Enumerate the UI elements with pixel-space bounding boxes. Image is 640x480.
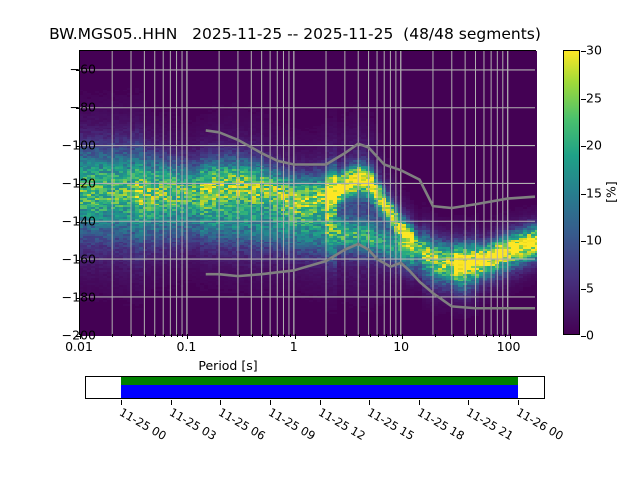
coverage-tick-label: 11-25 21 <box>464 405 516 443</box>
colorbar-tick-label: 25 <box>586 90 602 105</box>
x-axis-minor-tick <box>435 334 436 337</box>
colorbar-tick-label: 5 <box>586 280 594 295</box>
x-axis-tick-label: 100 <box>497 339 521 354</box>
x-axis-minor-tick <box>252 334 253 337</box>
x-axis-minor-tick <box>239 334 240 337</box>
x-axis-minor-tick <box>505 334 506 337</box>
coverage-tick <box>220 400 221 405</box>
x-axis-minor-tick <box>278 334 279 337</box>
x-axis-minor-tick <box>284 334 285 337</box>
coverage-tick <box>369 400 370 405</box>
noise-model-nlnm <box>206 244 535 308</box>
coverage-tick <box>121 400 122 405</box>
colorbar-tick-label: 10 <box>586 233 602 248</box>
colorbar-tick-label: 0 <box>586 328 594 343</box>
x-axis-minor-tick <box>486 334 487 337</box>
coverage-tick <box>171 400 172 405</box>
x-axis-tick <box>510 334 511 339</box>
x-axis-minor-tick <box>453 334 454 337</box>
x-axis-minor-tick <box>467 334 468 337</box>
x-axis-minor-tick <box>155 334 156 337</box>
x-axis-minor-tick <box>346 334 347 337</box>
coverage-tick <box>518 400 519 405</box>
colorbar-tick <box>581 99 586 100</box>
x-axis-minor-tick <box>131 334 132 337</box>
y-axis-tick-label: −60 <box>70 62 96 77</box>
x-axis-minor-tick <box>164 334 165 337</box>
x-axis-title: Period [s] <box>198 358 257 373</box>
y-axis-tick-label: −160 <box>62 252 96 267</box>
x-axis-tick-label: 10 <box>393 339 409 354</box>
x-axis-tick-label: 0.1 <box>176 339 196 354</box>
x-axis-tick-label: 0.01 <box>65 339 93 354</box>
x-axis-minor-tick <box>397 334 398 337</box>
coverage-tick-label: 11-26 00 <box>514 405 566 443</box>
x-axis-minor-tick <box>262 334 263 337</box>
coverage-tick <box>270 400 271 405</box>
x-axis-minor-tick <box>359 334 360 337</box>
colorbar <box>563 50 580 335</box>
x-axis-minor-tick <box>386 334 387 337</box>
coverage-tick <box>419 400 420 405</box>
coverage-tick-label: 11-25 18 <box>415 405 467 443</box>
coverage-band-green <box>121 377 518 385</box>
x-axis-minor-tick <box>392 334 393 337</box>
x-axis-tick <box>187 334 188 339</box>
x-axis-tick <box>295 334 296 339</box>
x-axis-minor-tick <box>271 334 272 337</box>
colorbar-tick <box>581 51 586 52</box>
colorbar-title: [%] <box>604 181 619 203</box>
x-axis-minor-tick <box>177 334 178 337</box>
coverage-tick-label: 11-25 15 <box>365 405 417 443</box>
x-axis-minor-tick <box>171 334 172 337</box>
coverage-band-blue <box>121 385 518 398</box>
plot-title: BW.MGS05..HHN 2025-11-25 -- 2025-11-25 (… <box>0 25 590 43</box>
y-axis-tick-label: −100 <box>62 138 96 153</box>
y-axis-tick-label: −140 <box>62 214 96 229</box>
colorbar-tick <box>581 336 586 337</box>
coverage-tick <box>468 400 469 405</box>
x-axis-minor-tick <box>493 334 494 337</box>
x-axis-minor-tick <box>182 334 183 337</box>
x-axis-minor-tick <box>220 334 221 337</box>
ppsd-figure: BW.MGS05..HHN 2025-11-25 -- 2025-11-25 (… <box>0 0 640 480</box>
x-axis-minor-tick <box>378 334 379 337</box>
noise-model-nhnm <box>206 130 535 208</box>
colorbar-tick-label: 15 <box>586 185 602 200</box>
coverage-tick <box>320 400 321 405</box>
colorbar-tick <box>581 194 586 195</box>
colorbar-tick <box>581 241 586 242</box>
x-axis-minor-tick <box>290 334 291 337</box>
coverage-tick-label: 11-25 12 <box>316 405 368 443</box>
y-axis-tick-label: −180 <box>62 290 96 305</box>
coverage-tick-label: 11-25 09 <box>266 405 318 443</box>
colorbar-tick-label: 30 <box>586 43 602 58</box>
x-axis-minor-tick <box>327 334 328 337</box>
y-axis-tick-label: −80 <box>70 100 96 115</box>
ppsd-axes <box>79 50 536 335</box>
colorbar-tick <box>581 146 586 147</box>
x-axis-tick-label: 1 <box>290 339 298 354</box>
colorbar-tick-label: 20 <box>586 138 602 153</box>
coverage-tick-label: 11-25 03 <box>167 405 219 443</box>
x-axis-minor-tick <box>499 334 500 337</box>
coverage-bar <box>85 376 545 399</box>
coverage-tick-label: 11-25 00 <box>117 405 169 443</box>
noise-model-lines <box>80 51 535 335</box>
y-axis-tick-label: −120 <box>62 176 96 191</box>
x-axis-minor-tick <box>145 334 146 337</box>
x-axis-tick <box>402 334 403 339</box>
coverage-tick-label: 11-25 06 <box>216 405 268 443</box>
colorbar-tick <box>581 289 586 290</box>
x-axis-minor-tick <box>112 334 113 337</box>
x-axis-minor-tick <box>370 334 371 337</box>
x-axis-minor-tick <box>477 334 478 337</box>
